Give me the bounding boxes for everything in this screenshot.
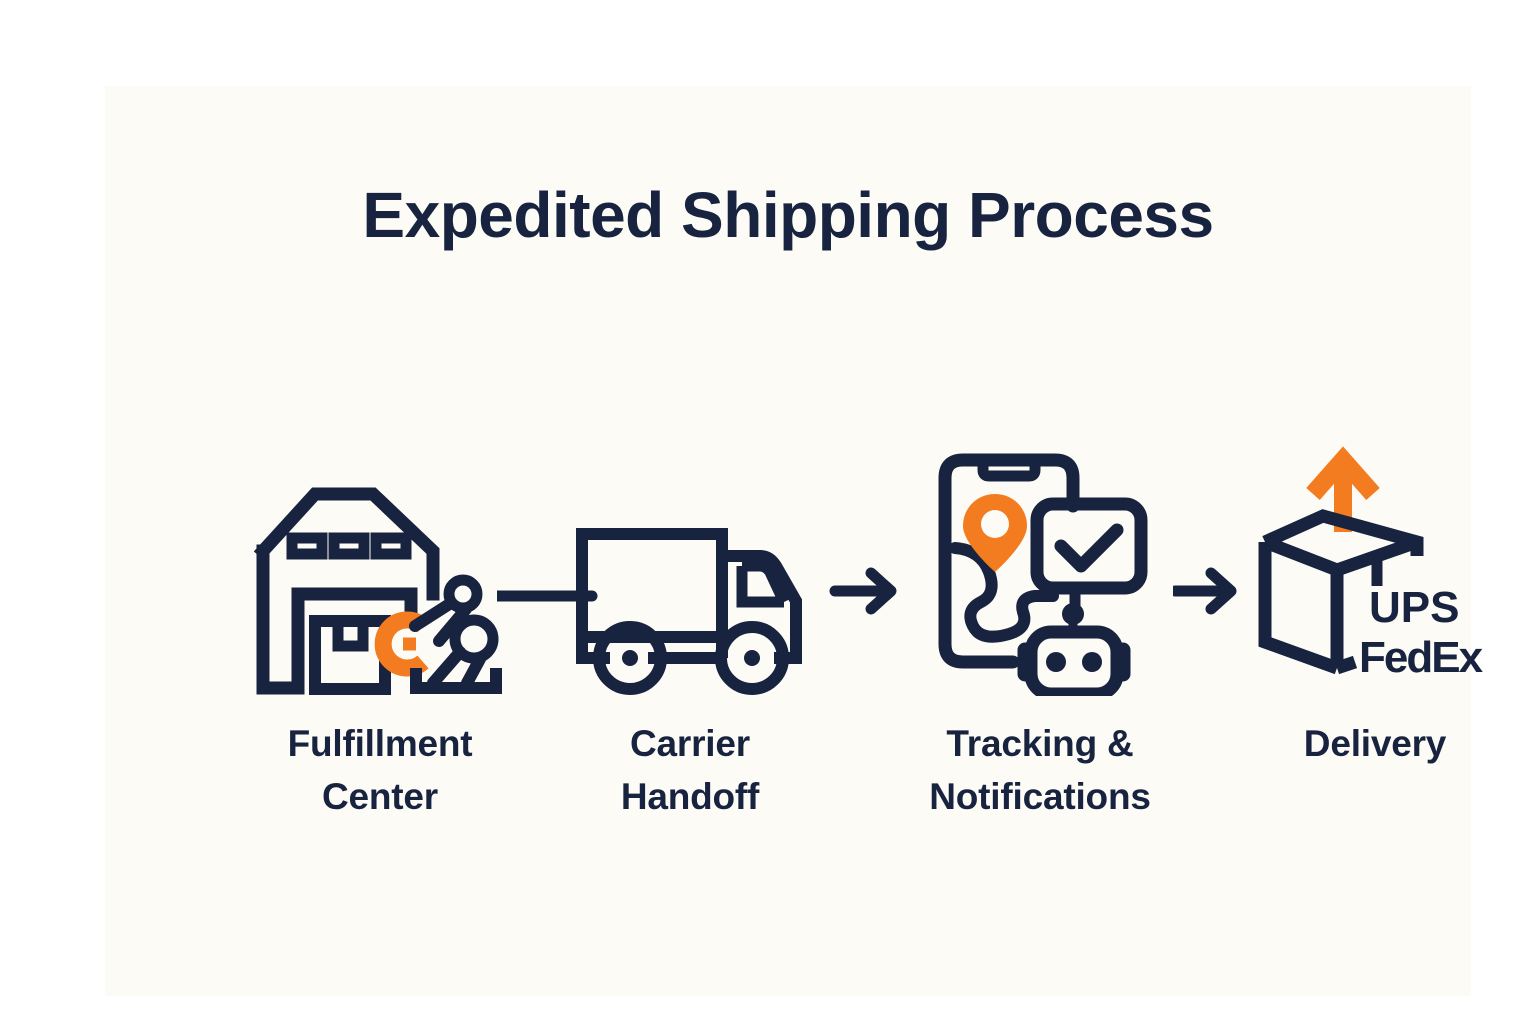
warehouse-robot-arm-icon — [250, 446, 510, 696]
infographic-canvas: Expedited Shipping Process — [0, 0, 1536, 1024]
fedex-label: FedEx — [1359, 633, 1484, 682]
step-label-tracking-notifications: Tracking & Notifications — [910, 718, 1170, 823]
step-fulfillment-center[interactable]: Fulfillment Center — [250, 446, 510, 823]
step-carrier-handoff[interactable]: Carrier Handoff — [560, 446, 820, 823]
step-label-line-1: Carrier — [560, 718, 820, 771]
package-carriers-icon: UPS FedEx — [1245, 446, 1505, 696]
phone-map-robot-icon — [910, 446, 1170, 696]
step-label-delivery: Delivery — [1245, 718, 1505, 771]
page-title: Expedited Shipping Process — [105, 178, 1471, 252]
step-delivery[interactable]: UPS FedEx Delivery — [1245, 446, 1505, 771]
step-label-fulfillment-center: Fulfillment Center — [250, 718, 510, 823]
step-label-line-1: Tracking & — [910, 718, 1170, 771]
step-label-line-1: Delivery — [1245, 718, 1505, 771]
delivery-truck-icon — [560, 446, 820, 696]
ups-label: UPS — [1369, 583, 1459, 632]
infographic-card: Expedited Shipping Process — [105, 86, 1471, 996]
step-label-line-2: Handoff — [560, 771, 820, 824]
step-tracking-notifications[interactable]: Tracking & Notifications — [910, 446, 1170, 823]
step-label-line-2: Notifications — [910, 771, 1170, 824]
step-label-line-2: Center — [250, 771, 510, 824]
step-label-line-1: Fulfillment — [250, 718, 510, 771]
step-label-carrier-handoff: Carrier Handoff — [560, 718, 820, 823]
